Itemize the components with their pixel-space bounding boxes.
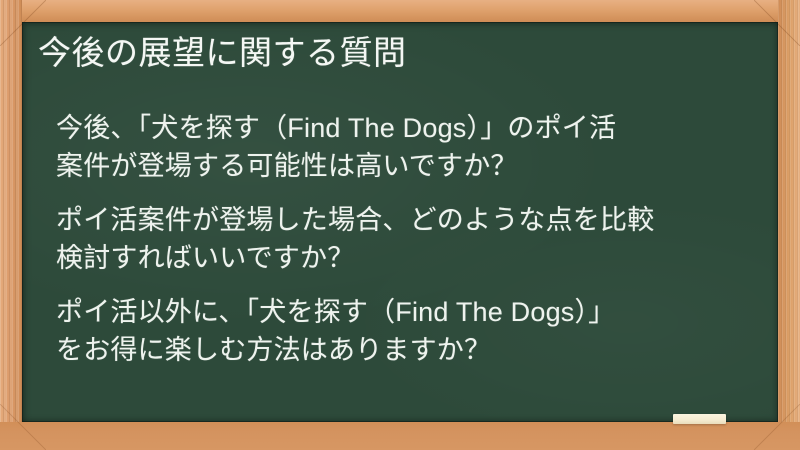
chalkboard-surface: 今後の展望に関する質問 今後、「犬を探す（Find The Dogs）」のポイ活… xyxy=(22,22,778,422)
chalk-stick-icon xyxy=(673,414,726,424)
list-item: ポイ活案件が登場した場合、どのような点を比較 検討すればいいですか？ xyxy=(56,201,758,277)
frame-rail-bottom xyxy=(0,422,800,450)
chalkboard-slide: 今後の展望に関する質問 今後、「犬を探す（Find The Dogs）」のポイ活… xyxy=(0,0,800,450)
list-item: 今後、「犬を探す（Find The Dogs）」のポイ活 案件が登場する可能性は… xyxy=(56,109,758,185)
list-item: ポイ活以外に、「犬を探す（Find The Dogs）」 をお得に楽しむ方法はあ… xyxy=(56,293,758,369)
frame-rail-top xyxy=(0,0,800,22)
page-title: 今後の展望に関する質問 xyxy=(38,32,407,74)
question-list: 今後、「犬を探す（Find The Dogs）」のポイ活 案件が登場する可能性は… xyxy=(56,109,758,369)
frame-rail-right xyxy=(778,0,800,450)
frame-rail-left xyxy=(0,0,22,450)
